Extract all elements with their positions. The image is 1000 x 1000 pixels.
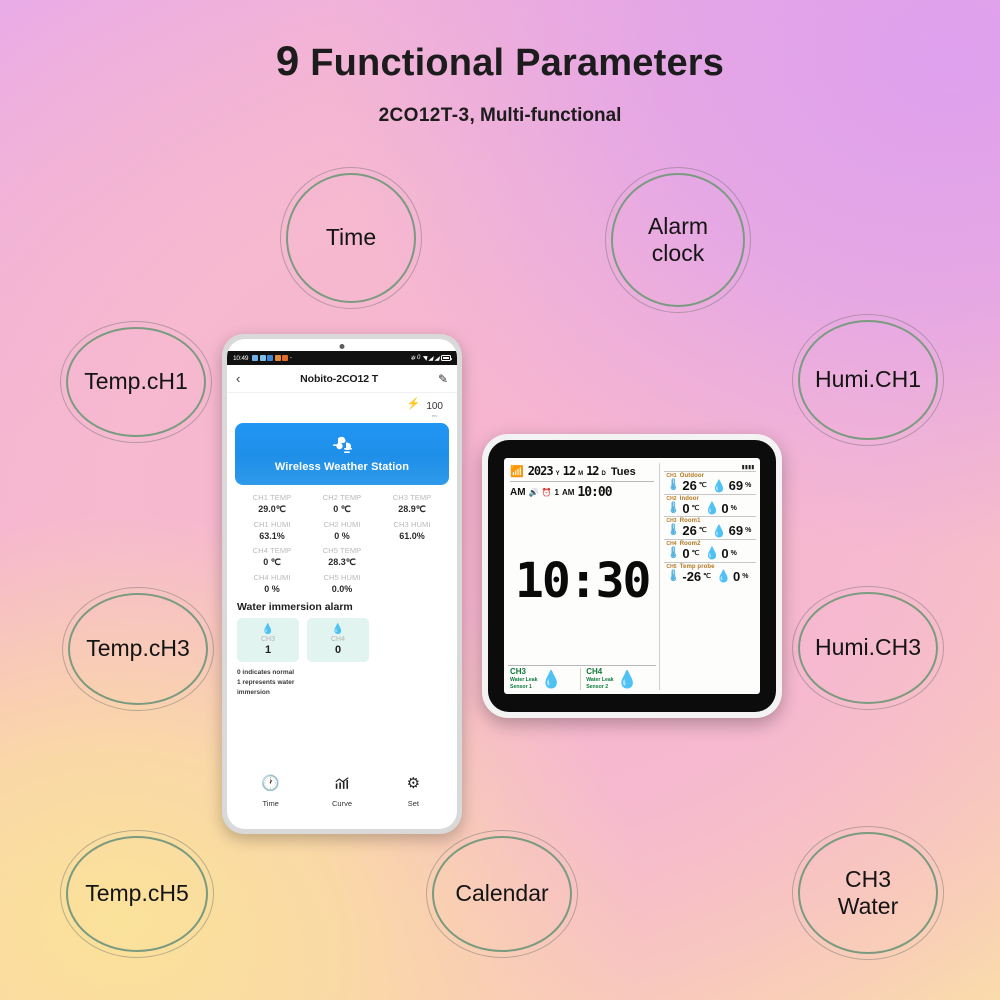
- feature-circle-temp-ch1: Temp.cH1: [66, 327, 206, 437]
- feature-circle-temp-ch5: Temp.cH5: [66, 836, 208, 952]
- lcd-humi-unit: %: [745, 482, 751, 489]
- feature-label-humi-ch1: Humi.CH1: [811, 366, 925, 393]
- thermometer-icon: 🌡: [666, 480, 680, 492]
- lcd-meridiem: AM: [510, 487, 526, 498]
- weather-station-card-title: Wireless Weather Station: [275, 461, 409, 473]
- water-alarm-value: 1: [265, 644, 271, 656]
- feature-circle-ch3-water: CH3 Water: [798, 832, 938, 954]
- feature-label-humi-ch3: Humi.CH3: [811, 634, 925, 661]
- reading-label: CH2 TEMP: [307, 493, 377, 502]
- reading-value: 0 %: [307, 531, 377, 541]
- water-alarm-value: 0: [335, 644, 341, 656]
- water-immersion-boxes: 💧 CH3 1 💧 CH4 0: [227, 613, 457, 662]
- lcd-humi-value: 0: [721, 502, 728, 516]
- water-alarm-channel: CH4: [331, 636, 345, 643]
- battery-value: 100 mv: [426, 397, 443, 418]
- notification-icon: [275, 355, 281, 361]
- reading-value: 0 ℃: [237, 557, 307, 568]
- water-alarm-channel: CH3: [261, 636, 275, 643]
- reading-row: CH4 TEMP 0 ℃ CH5 TEMP 28.3℃: [237, 546, 447, 573]
- lcd-weekday: Tues: [611, 466, 636, 478]
- feature-label-calendar: Calendar: [451, 880, 552, 907]
- leak-text-ch4: CH4 Water Leak Sensor 2: [586, 668, 614, 690]
- lcd-humi-value: 69: [729, 524, 743, 538]
- subtitle-text: Multi-functional: [480, 105, 621, 126]
- lcd-year: 2023: [528, 464, 553, 478]
- smartphone-mockup: 10:49 - ✲ 0 ◥ ◢ ◢ ‹ Nobito-2CO12 T ✎: [222, 334, 462, 834]
- reading-value: 28.9℃: [377, 504, 447, 515]
- reading-value: 0 ℃: [307, 504, 377, 515]
- lcd-channel-row-ch5: CH5Temp probe 🌡 -26℃ 💧 0%: [664, 562, 756, 585]
- battery-number: 100: [426, 401, 443, 412]
- lcd-channel-row-ch2: CH2Indoor 🌡 0℃ 💧 0%: [664, 494, 756, 517]
- battery-reading-row: ⚡ 100 mv: [227, 393, 457, 421]
- water-alarm-box-ch4[interactable]: 💧 CH4 0: [307, 618, 369, 662]
- lcd-temp-unit: ℃: [703, 573, 711, 580]
- nav-item-set[interactable]: ⚙ Set: [378, 776, 449, 811]
- signal-icon: ◢: [428, 355, 432, 362]
- reading-cell: CH2 TEMP 0 ℃: [307, 493, 377, 520]
- reading-label: CH1 TEMP: [237, 493, 307, 502]
- lcd-channel-values: 🌡 0℃ 💧 0%: [666, 502, 756, 516]
- lcd-channel-id: CH2: [666, 496, 676, 502]
- lcd-channel-values: 🌡 26℃ 💧 69%: [666, 524, 756, 538]
- lcd-channel-row-ch3: CH3Room1 🌡 26℃ 💧 69%: [664, 516, 756, 539]
- subtitle-comma: ,: [469, 105, 474, 126]
- lcd-alarm-number: 1: [555, 488, 559, 497]
- water-drop-icon: 💧: [541, 671, 562, 688]
- reading-row: CH1 TEMP 29.0℃ CH2 TEMP 0 ℃ CH3 TEMP 28.…: [237, 493, 447, 520]
- reading-cell: CH2 HUMI 0 %: [307, 520, 377, 546]
- front-camera-icon: [340, 344, 345, 349]
- notification-icon: [267, 355, 273, 361]
- feature-circle-alarm-clock: Alarm clock: [611, 173, 745, 307]
- reading-cell: CH5 TEMP 28.3℃: [307, 546, 377, 573]
- app-bar: ‹ Nobito-2CO12 T ✎: [227, 365, 457, 393]
- reading-cell: CH4 HUMI 0 %: [237, 573, 307, 599]
- lcd-date-row: 📶 2023Y 12M 12D Tues: [508, 463, 656, 480]
- water-line1: CH3: [841, 866, 895, 892]
- water-drop-icon: 💧: [704, 547, 719, 560]
- reading-label: CH3 TEMP: [377, 493, 447, 502]
- feature-label-temp-ch1: Temp.cH1: [80, 368, 192, 395]
- battery-icon: ▮▮▮▮: [741, 463, 756, 471]
- reading-value: 0.0%: [307, 584, 377, 594]
- reading-label: CH5 HUMI: [307, 573, 377, 582]
- notification-icon: [252, 355, 258, 361]
- reading-label: CH4 TEMP: [237, 546, 307, 555]
- sensor-readings-grid: CH1 TEMP 29.0℃ CH2 TEMP 0 ℃ CH3 TEMP 28.…: [227, 485, 457, 599]
- title-text: Functional Parameters: [310, 42, 724, 84]
- thermometer-icon: 🌡: [666, 548, 680, 560]
- bottom-navigation: 🕐 Time Curve ⚙ Set: [227, 776, 457, 811]
- note-line-1: 0 indicates normal: [237, 668, 447, 678]
- reading-value: 29.0℃: [237, 504, 307, 515]
- lightning-bolt-icon: ⚡: [407, 399, 421, 410]
- lcd-channel-id: CH5: [666, 564, 676, 570]
- device-title: Nobito-2CO12 T: [240, 373, 438, 385]
- page-subtitle: 2CO12T-3, Multi-functional: [0, 105, 1000, 127]
- notification-icon: [260, 355, 266, 361]
- reading-label: CH2 HUMI: [307, 520, 377, 529]
- water-immersion-alarm-title: Water immersion alarm: [227, 599, 457, 613]
- lcd-temp-unit: ℃: [692, 550, 700, 557]
- leak-channel: CH3: [510, 668, 538, 677]
- lcd-humi-unit: %: [745, 527, 751, 534]
- lcd-humi-unit: %: [742, 573, 748, 580]
- water-line2: Water: [834, 893, 903, 919]
- bluetooth-icon: ✲: [410, 355, 415, 362]
- lcd-humi-unit: %: [731, 505, 737, 512]
- page-header: 9 Functional Parameters 2CO12T-3, Multi-…: [0, 38, 1000, 127]
- lcd-temp-unit: ℃: [699, 482, 707, 489]
- lcd-humi-value: 0: [721, 547, 728, 561]
- lcd-temp-unit: ℃: [699, 527, 707, 534]
- water-drop-icon: 💧: [712, 480, 727, 493]
- reading-value: 63.1%: [237, 531, 307, 541]
- pencil-icon[interactable]: ✎: [438, 372, 448, 386]
- weather-station-device: 📶 2023Y 12M 12D Tues AM 🔊 ⏰ 1 AM 10:00 1…: [482, 434, 782, 718]
- note-line-3: immersion: [237, 688, 447, 698]
- lcd-channel-values: 🌡 0℃ 💧 0%: [666, 547, 756, 561]
- lcd-leak-row: CH3 Water Leak Sensor 1 💧 CH4 Water Leak…: [508, 665, 656, 690]
- leak-text-ch3: CH3 Water Leak Sensor 1: [510, 668, 538, 690]
- lcd-temp-value: 0: [682, 547, 689, 561]
- reading-value: 28.3℃: [307, 557, 377, 568]
- alarm-clock-icon: ⏰: [542, 488, 552, 497]
- leak-desc-line1: Water Leak: [510, 677, 538, 684]
- feature-label-temp-ch3: Temp.cH3: [82, 635, 194, 662]
- clock-icon: 🕐: [235, 776, 306, 793]
- reading-label: CH4 HUMI: [237, 573, 307, 582]
- note-line-2: 1 represents water: [237, 678, 447, 688]
- feature-circle-humi-ch1: Humi.CH1: [798, 320, 938, 440]
- reading-row: CH4 HUMI 0 % CH5 HUMI 0.0%: [237, 573, 447, 599]
- gear-icon: ⚙: [378, 776, 449, 793]
- lcd-channel-values: 🌡 -26℃ 💧 0%: [666, 570, 756, 584]
- lcd-left-panel: 📶 2023Y 12M 12D Tues AM 🔊 ⏰ 1 AM 10:00 1…: [508, 463, 659, 690]
- notification-icon: [282, 355, 288, 361]
- battery-icon: [441, 355, 451, 361]
- leak-sensor-ch4: CH4 Water Leak Sensor 2 💧: [580, 668, 656, 690]
- lcd-month-unit: M: [578, 471, 583, 477]
- lcd-channel-row-ch1: CH1Outdoor 🌡 26℃ 💧 69%: [664, 471, 756, 494]
- lcd-humi-unit: %: [731, 550, 737, 557]
- feature-circle-humi-ch3: Humi.CH3: [798, 592, 938, 704]
- lcd-month: 12: [563, 464, 575, 478]
- feature-circle-time: Time: [286, 173, 416, 303]
- lcd-temp-unit: ℃: [692, 505, 700, 512]
- speaker-icon: 🔊: [529, 488, 539, 497]
- status-bar-app-icons: -: [252, 355, 292, 361]
- reading-value: 61.0%: [377, 531, 447, 541]
- thermometer-icon: 🌡: [666, 571, 680, 583]
- water-drop-icon: 💧: [712, 525, 727, 538]
- model-code: 2CO12T-3: [379, 105, 470, 126]
- phone-screen: 10:49 - ✲ 0 ◥ ◢ ◢ ‹ Nobito-2CO12 T ✎: [227, 339, 457, 829]
- reading-cell: CH3 TEMP 28.9℃: [377, 493, 447, 520]
- leak-desc-line2: Sensor 2: [586, 684, 614, 691]
- battery-unit: mv: [426, 414, 443, 418]
- nav-item-time[interactable]: 🕐 Time: [235, 776, 306, 811]
- status-bar-system-icons: ✲ 0 ◥ ◢ ◢: [410, 355, 451, 362]
- nav-item-curve[interactable]: Curve: [306, 776, 377, 811]
- dnd-icon: 0: [417, 355, 420, 361]
- leak-sensor-ch3: CH3 Water Leak Sensor 1 💧: [508, 668, 580, 690]
- reading-cell-empty: [377, 573, 447, 599]
- lcd-divider: [510, 481, 654, 482]
- lcd-alarm-row: AM 🔊 ⏰ 1 AM 10:00: [508, 483, 656, 500]
- chart-icon: [306, 776, 377, 793]
- reading-cell-empty: [377, 546, 447, 573]
- wifi-icon: 📶: [510, 465, 524, 478]
- lcd-display: 📶 2023Y 12M 12D Tues AM 🔊 ⏰ 1 AM 10:00 1…: [504, 458, 760, 694]
- lcd-temp-value: 0: [682, 502, 689, 516]
- phone-status-bar: 10:49 - ✲ 0 ◥ ◢ ◢: [227, 351, 457, 365]
- water-alarm-box-ch3[interactable]: 💧 CH3 1: [237, 618, 299, 662]
- water-drop-icon: 💧: [332, 625, 344, 635]
- station-bezel: 📶 2023Y 12M 12D Tues AM 🔊 ⏰ 1 AM 10:00 1…: [488, 440, 776, 712]
- more-icon: -: [290, 355, 292, 361]
- status-bar-time: 10:49: [233, 355, 248, 362]
- leak-desc-line2: Sensor 1: [510, 684, 538, 691]
- reading-cell: CH4 TEMP 0 ℃: [237, 546, 307, 573]
- reading-cell: CH1 HUMI 63.1%: [237, 520, 307, 546]
- lcd-humi-value: 0: [733, 570, 740, 584]
- feature-circle-temp-ch3: Temp.cH3: [68, 593, 208, 705]
- lcd-day: 12: [586, 464, 598, 478]
- lcd-humi-value: 69: [729, 479, 743, 493]
- water-drop-icon: 💧: [262, 625, 274, 635]
- feature-circle-calendar: Calendar: [432, 836, 572, 952]
- thermometer-icon: 🌡: [666, 503, 680, 515]
- title-number: 9: [276, 37, 300, 84]
- feature-label-alarm-clock: Alarm clock: [640, 213, 716, 267]
- page-title: 9 Functional Parameters: [0, 38, 1000, 85]
- water-drop-icon: 💧: [716, 570, 731, 583]
- lcd-alarm-meridiem: AM: [562, 488, 574, 497]
- lcd-temp-value: 26: [682, 524, 696, 538]
- reading-value: 0 %: [237, 584, 307, 594]
- reading-label: CH5 TEMP: [307, 546, 377, 555]
- alarm-line1: Alarm: [644, 213, 712, 239]
- lcd-channel-values: 🌡 26℃ 💧 69%: [666, 479, 756, 493]
- nav-label-curve: Curve: [332, 799, 352, 808]
- leak-channel: CH4: [586, 668, 614, 677]
- alarm-line2: clock: [648, 240, 708, 266]
- lcd-year-unit: Y: [556, 471, 560, 477]
- thermometer-icon: 🌡: [666, 525, 680, 537]
- leak-desc-line1: Water Leak: [586, 677, 614, 684]
- reading-cell: CH5 HUMI 0.0%: [307, 573, 377, 599]
- reading-row: CH1 HUMI 63.1% CH2 HUMI 0 % CH3 HUMI 61.…: [237, 520, 447, 546]
- lcd-temp-value: 26: [682, 479, 696, 493]
- nav-label-time: Time: [262, 799, 278, 808]
- reading-cell: CH3 HUMI 61.0%: [377, 520, 447, 546]
- lcd-channel-row-ch4: CH4Room2 🌡 0℃ 💧 0%: [664, 539, 756, 562]
- weather-station-icon: [329, 435, 355, 457]
- nav-label-set: Set: [408, 799, 419, 808]
- lcd-right-panel: ▮▮▮▮ CH1Outdoor 🌡 26℃ 💧 69% CH2Indoor: [659, 463, 756, 690]
- lcd-day-unit: D: [602, 471, 606, 477]
- lcd-alarm-time: 10:00: [577, 485, 611, 500]
- water-drop-icon: 💧: [617, 671, 638, 688]
- weather-station-card[interactable]: Wireless Weather Station: [235, 423, 449, 485]
- lcd-temp-value: -26: [682, 570, 701, 584]
- wifi-icon: ◥: [422, 355, 426, 362]
- water-alarm-note: 0 indicates normal 1 represents water im…: [227, 662, 457, 697]
- reading-label: CH3 HUMI: [377, 520, 447, 529]
- signal-icon: ◢: [435, 355, 439, 362]
- feature-label-temp-ch5: Temp.cH5: [81, 880, 193, 907]
- water-drop-icon: 💧: [704, 502, 719, 515]
- reading-label: CH1 HUMI: [237, 520, 307, 529]
- feature-label-ch3-water: CH3 Water: [830, 866, 907, 920]
- lcd-big-time: 10:30: [508, 500, 656, 665]
- reading-cell: CH1 TEMP 29.0℃: [237, 493, 307, 520]
- feature-label-time: Time: [322, 224, 380, 251]
